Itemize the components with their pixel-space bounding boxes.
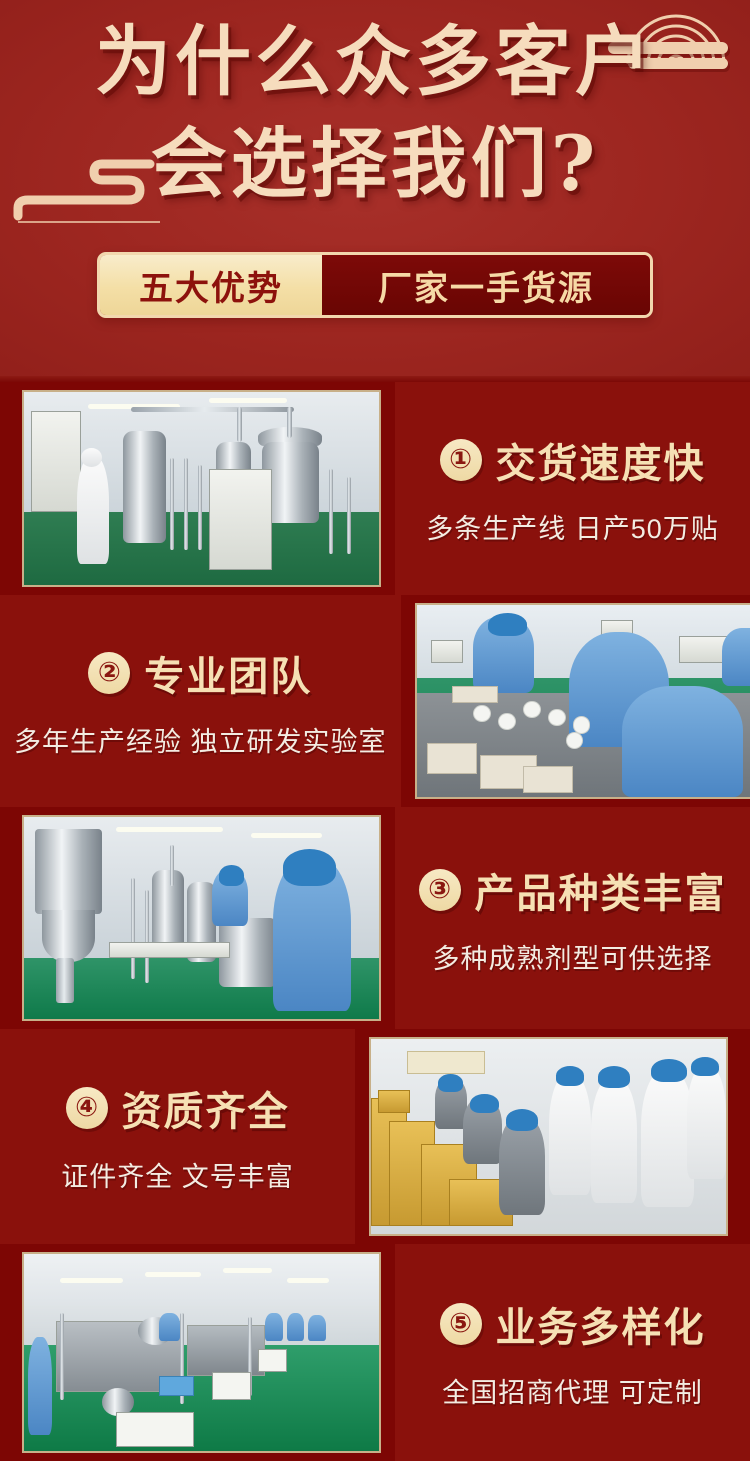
feature-head-1: ① 交货速度快 <box>440 431 706 489</box>
badge-left: 五大优势 <box>100 255 322 315</box>
feature-head-2: ② 专业团队 <box>88 644 312 702</box>
feature-subtitle-2: 多年生产经验 独立研发实验室 <box>14 720 387 759</box>
feature-photo-3 <box>22 815 381 1021</box>
badge-left-label: 五大优势 <box>139 261 283 310</box>
feature-row-5: ⑤ 业务多样化 全国招商代理 可定制 <box>0 1244 750 1461</box>
feature-text-cell-3: ③ 产品种类丰富 多种成熟剂型可供选择 <box>395 807 750 1029</box>
feature-title-3: 产品种类丰富 <box>475 861 727 919</box>
feature-photo-cell-4 <box>355 1029 750 1244</box>
feature-text-cell-5: ⑤ 业务多样化 全国招商代理 可定制 <box>395 1244 750 1461</box>
header-title: 为什么众多客户 会选择我们? <box>0 24 750 202</box>
title-line-2: 会选择我们? <box>0 126 750 202</box>
feature-photo-cell-5 <box>0 1244 395 1461</box>
feature-subtitle-1: 多条生产线 日产50万贴 <box>426 507 719 546</box>
header-banner: 为什么众多客户 会选择我们? 五大优势 厂家一手货源 <box>0 0 750 382</box>
feature-title-1: 交货速度快 <box>496 431 706 489</box>
feature-text-cell-2: ② 专业团队 多年生产经验 独立研发实验室 <box>0 595 401 807</box>
feature-photo-cell-3 <box>0 807 395 1029</box>
feature-head-3: ③ 产品种类丰富 <box>419 861 727 919</box>
feature-number-2: ② <box>88 652 130 694</box>
feature-number-3: ③ <box>419 869 461 911</box>
title-line-1: 为什么众多客户 <box>0 24 750 100</box>
feature-row-2: ② 专业团队 多年生产经验 独立研发实验室 <box>0 595 750 807</box>
promo-page: 为什么众多客户 会选择我们? 五大优势 厂家一手货源 <box>0 0 750 1461</box>
feature-row-1: ① 交货速度快 多条生产线 日产50万贴 <box>0 382 750 595</box>
feature-subtitle-4: 证件齐全 文号丰富 <box>61 1155 294 1194</box>
feature-title-2: 专业团队 <box>144 644 312 702</box>
feature-title-5: 业务多样化 <box>496 1295 706 1353</box>
features-section: ① 交货速度快 多条生产线 日产50万贴 ② 专业团队 多年生产经验 独立研发实… <box>0 382 750 1461</box>
feature-photo-cell-1 <box>0 382 395 595</box>
feature-title-4: 资质齐全 <box>122 1079 290 1137</box>
advantage-badge-bar: 五大优势 厂家一手货源 <box>97 252 653 318</box>
feature-number-1: ① <box>440 439 482 481</box>
feature-number-4: ④ <box>66 1087 108 1129</box>
feature-head-5: ⑤ 业务多样化 <box>440 1295 706 1353</box>
badge-right: 厂家一手货源 <box>322 255 650 315</box>
feature-text-cell-4: ④ 资质齐全 证件齐全 文号丰富 <box>0 1029 355 1244</box>
feature-text-cell-1: ① 交货速度快 多条生产线 日产50万贴 <box>395 382 750 595</box>
feature-row-4: ④ 资质齐全 证件齐全 文号丰富 <box>0 1029 750 1244</box>
feature-photo-1 <box>22 390 381 587</box>
feature-photo-4 <box>369 1037 728 1236</box>
feature-subtitle-5: 全国招商代理 可定制 <box>442 1371 703 1410</box>
badge-right-label: 厂家一手货源 <box>378 261 594 310</box>
feature-photo-2 <box>415 603 750 799</box>
feature-number-5: ⑤ <box>440 1303 482 1345</box>
feature-row-3: ③ 产品种类丰富 多种成熟剂型可供选择 <box>0 807 750 1029</box>
feature-head-4: ④ 资质齐全 <box>66 1079 290 1137</box>
feature-photo-5 <box>22 1252 381 1453</box>
feature-photo-cell-2 <box>401 595 750 807</box>
feature-subtitle-3: 多种成熟剂型可供选择 <box>433 937 713 976</box>
